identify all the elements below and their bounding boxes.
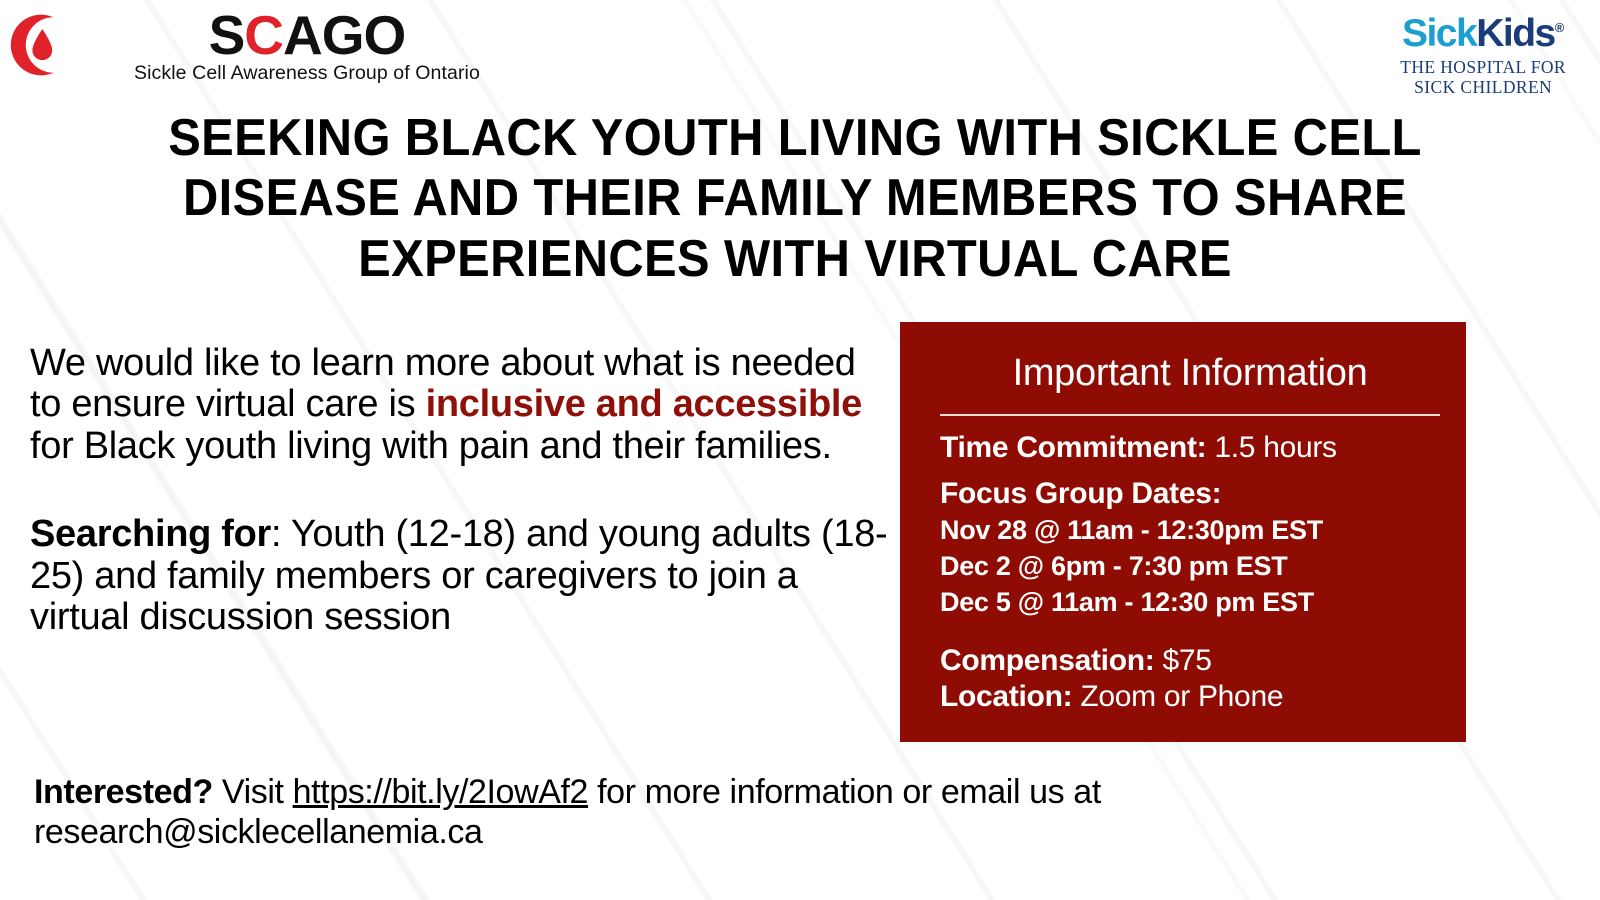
visit-text: Visit bbox=[213, 773, 293, 811]
location-value: Zoom or Phone bbox=[1072, 680, 1283, 713]
compensation-row: Compensation: $75 bbox=[940, 643, 1440, 680]
scago-letter-s: S bbox=[209, 4, 245, 66]
info-box-title: Important Information bbox=[940, 338, 1440, 397]
compensation-value: $75 bbox=[1154, 644, 1211, 677]
time-commitment-label: Time Commitment: bbox=[940, 431, 1206, 464]
important-information-box: Important Information Time Commitment: 1… bbox=[900, 322, 1466, 742]
sickkids-subtitle-line1: THE HOSPITAL FOR bbox=[1400, 58, 1566, 78]
scago-wordmark: SCAGO bbox=[209, 8, 406, 63]
footer-middle-text: for more information or email us at bbox=[588, 773, 1101, 811]
interested-label: Interested? bbox=[34, 773, 213, 811]
focus-group-date-3: Dec 5 @ 11am - 12:30 pm EST bbox=[940, 585, 1440, 621]
focus-group-dates-label-text: Focus Group Dates: bbox=[940, 477, 1221, 510]
location-label: Location: bbox=[940, 680, 1072, 713]
page-title: SEEKING BLACK YOUTH LIVING WITH SICKLE C… bbox=[104, 108, 1486, 289]
paragraph-searching-for: Searching for: Youth (12-18) and young a… bbox=[30, 514, 890, 638]
footer-contact: Interested? Visit https://bit.ly/2IowAf2… bbox=[34, 773, 1474, 853]
focus-group-date-2: Dec 2 @ 6pm - 7:30 pm EST bbox=[940, 549, 1440, 585]
searching-for-label: Searching for bbox=[30, 513, 271, 555]
poster-canvas: SCAGO Sickle Cell Awareness Group of Ont… bbox=[0, 0, 1600, 900]
sickkids-word-sick: Sick bbox=[1402, 12, 1476, 55]
registered-trademark-icon: ® bbox=[1555, 20, 1565, 35]
scago-wordmark-block: SCAGO Sickle Cell Awareness Group of Ont… bbox=[134, 8, 480, 85]
time-commitment-row: Time Commitment: 1.5 hours bbox=[940, 430, 1440, 467]
time-commitment-value: 1.5 hours bbox=[1206, 431, 1336, 464]
scago-logo: SCAGO Sickle Cell Awareness Group of Ont… bbox=[6, 8, 480, 85]
scago-letter-c: C bbox=[244, 4, 283, 66]
signup-url-link[interactable]: https://bit.ly/2IowAf2 bbox=[293, 773, 588, 811]
scago-letters-ago: AGO bbox=[283, 4, 405, 66]
info-box-divider bbox=[940, 414, 1440, 416]
spacer bbox=[940, 467, 1440, 476]
focus-group-dates-label: Focus Group Dates: bbox=[940, 476, 1440, 513]
purpose-highlight: inclusive and accessible bbox=[426, 383, 862, 425]
sickkids-wordmark: SickKids® bbox=[1400, 14, 1566, 53]
sickkids-word-kids: Kids bbox=[1476, 12, 1555, 55]
focus-group-date-1: Nov 28 @ 11am - 12:30pm EST bbox=[940, 513, 1440, 549]
sickkids-logo: SickKids® THE HOSPITAL FOR SICK CHILDREN bbox=[1400, 14, 1566, 98]
sickkids-subtitle-line2: SICK CHILDREN bbox=[1400, 78, 1566, 98]
compensation-label: Compensation: bbox=[940, 644, 1154, 677]
location-row: Location: Zoom or Phone bbox=[940, 679, 1440, 716]
blood-droplet-crescent-icon bbox=[6, 12, 72, 78]
contact-email[interactable]: research@sicklecellanemia.ca bbox=[34, 813, 483, 851]
spacer bbox=[940, 621, 1440, 643]
purpose-text-part2: for Black youth living with pain and the… bbox=[30, 425, 832, 467]
paragraph-purpose: We would like to learn more about what i… bbox=[30, 343, 890, 467]
body-text-column: We would like to learn more about what i… bbox=[30, 343, 890, 638]
poster-header: SCAGO Sickle Cell Awareness Group of Ont… bbox=[0, 0, 1600, 110]
